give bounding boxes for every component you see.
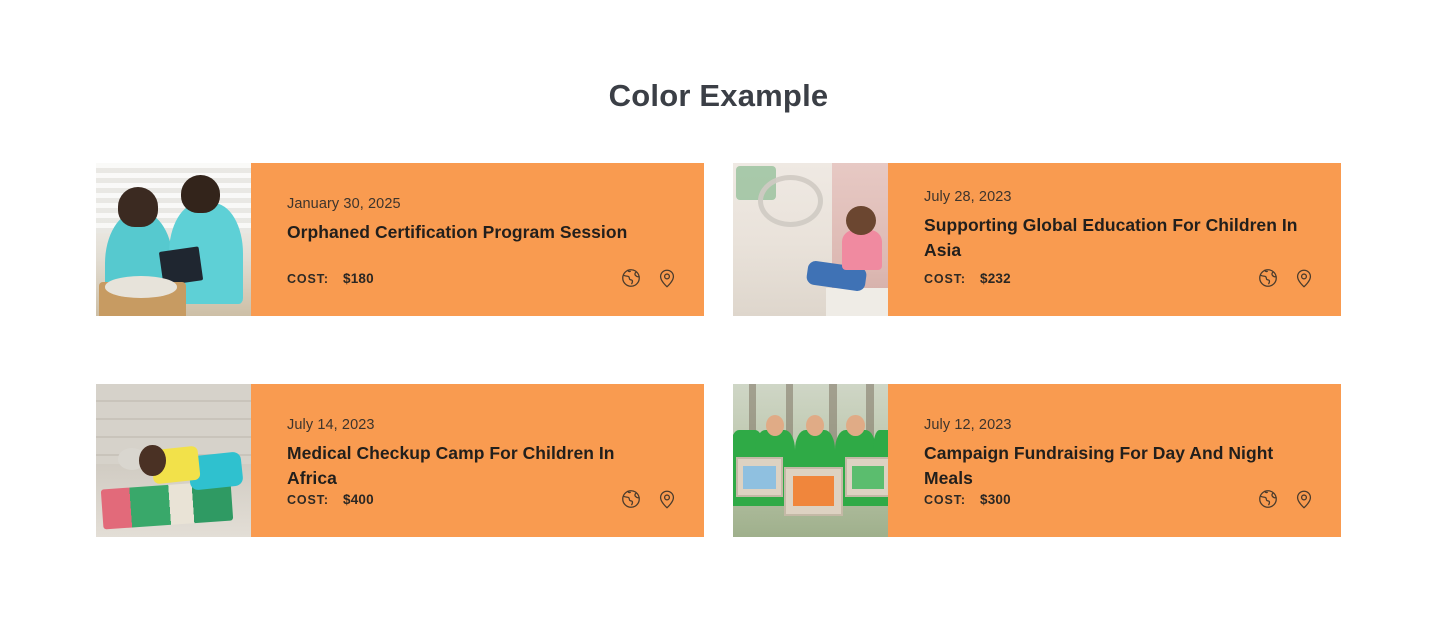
event-card-image xyxy=(96,384,251,537)
event-card-icons xyxy=(620,488,678,510)
cost-label: COST: xyxy=(287,272,329,286)
photo-donation-box-volunteers xyxy=(733,384,888,537)
event-title[interactable]: Supporting Global Education For Children… xyxy=(924,213,1304,264)
cost-value: $180 xyxy=(343,271,374,286)
event-card-image xyxy=(96,163,251,316)
globe-icon[interactable] xyxy=(1257,267,1279,289)
event-card-body: July 14, 2023 Medical Checkup Camp For C… xyxy=(251,384,704,537)
event-cost: COST: $232 xyxy=(924,271,1011,286)
photo-volunteers-sorting xyxy=(96,163,251,316)
photo-child-step xyxy=(733,163,888,316)
event-date: July 28, 2023 xyxy=(924,189,1315,205)
cost-label: COST: xyxy=(924,493,966,507)
event-cards-grid: January 30, 2025 Orphaned Certification … xyxy=(96,163,1341,537)
location-pin-icon[interactable] xyxy=(656,267,678,289)
event-card[interactable]: July 14, 2023 Medical Checkup Camp For C… xyxy=(96,384,704,537)
location-pin-icon[interactable] xyxy=(1293,267,1315,289)
event-cost: COST: $300 xyxy=(924,492,1011,507)
location-pin-icon[interactable] xyxy=(656,488,678,510)
page-root: Color Example January 30, 2025 Orphaned … xyxy=(0,0,1437,628)
location-pin-icon[interactable] xyxy=(1293,488,1315,510)
event-cost: COST: $180 xyxy=(287,271,374,286)
event-card-image xyxy=(733,384,888,537)
cost-value: $400 xyxy=(343,492,374,507)
cost-value: $300 xyxy=(980,492,1011,507)
event-card[interactable]: July 28, 2023 Supporting Global Educatio… xyxy=(733,163,1341,316)
event-date: July 12, 2023 xyxy=(924,417,1315,433)
event-card-icons xyxy=(620,267,678,289)
event-card-body: January 30, 2025 Orphaned Certification … xyxy=(251,163,704,316)
event-card-body: July 12, 2023 Campaign Fundraising For D… xyxy=(888,384,1341,537)
globe-icon[interactable] xyxy=(620,267,642,289)
event-title[interactable]: Medical Checkup Camp For Children In Afr… xyxy=(287,441,667,492)
event-cost: COST: $400 xyxy=(287,492,374,507)
page-title: Color Example xyxy=(0,78,1437,114)
photo-child-sleeping xyxy=(96,384,251,537)
event-card[interactable]: January 30, 2025 Orphaned Certification … xyxy=(96,163,704,316)
cost-value: $232 xyxy=(980,271,1011,286)
globe-icon[interactable] xyxy=(1257,488,1279,510)
event-card-footer: COST: $180 xyxy=(287,267,678,289)
event-date: January 30, 2025 xyxy=(287,196,678,212)
event-title[interactable]: Campaign Fundraising For Day And Night M… xyxy=(924,441,1304,492)
event-card-footer: COST: $232 xyxy=(924,267,1315,289)
event-card-image xyxy=(733,163,888,316)
event-card-footer: COST: $300 xyxy=(924,488,1315,510)
cost-label: COST: xyxy=(287,493,329,507)
event-card-footer: COST: $400 xyxy=(287,488,678,510)
cost-label: COST: xyxy=(924,272,966,286)
event-card[interactable]: July 12, 2023 Campaign Fundraising For D… xyxy=(733,384,1341,537)
globe-icon[interactable] xyxy=(620,488,642,510)
event-card-body: July 28, 2023 Supporting Global Educatio… xyxy=(888,163,1341,316)
event-title[interactable]: Orphaned Certification Program Session xyxy=(287,220,667,245)
event-card-icons xyxy=(1257,488,1315,510)
event-card-icons xyxy=(1257,267,1315,289)
event-date: July 14, 2023 xyxy=(287,417,678,433)
